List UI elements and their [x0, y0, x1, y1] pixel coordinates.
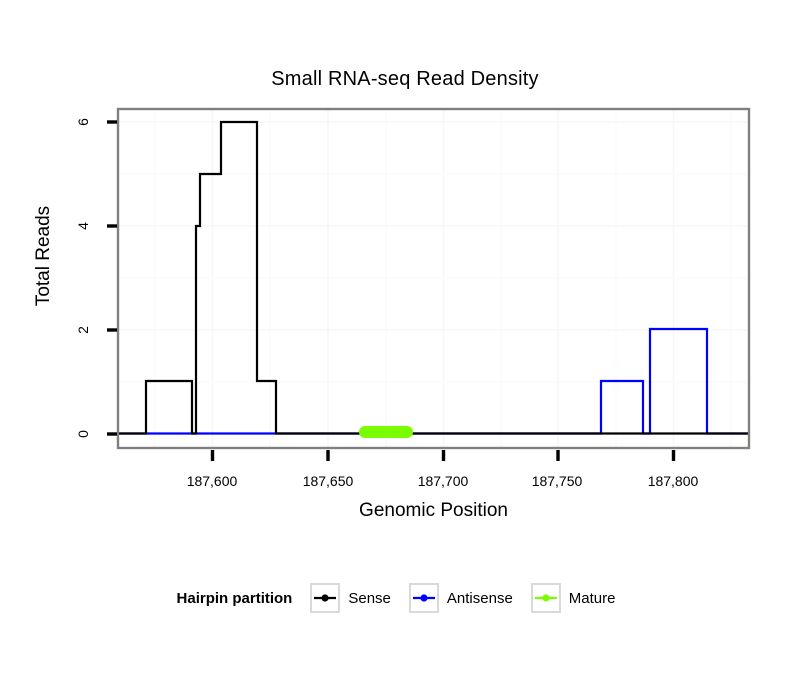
line-marker-icon [313, 587, 337, 609]
line-marker-icon [534, 587, 558, 609]
legend-key-antisense [409, 583, 439, 613]
legend-key-mature [531, 583, 561, 613]
legend-item-antisense[interactable]: Antisense [409, 583, 531, 613]
legend-title: Hairpin partition [177, 590, 293, 607]
legend-label-sense: Sense [348, 590, 391, 607]
legend-label-mature: Mature [569, 590, 616, 607]
legend-key-sense [310, 583, 340, 613]
legend-item-mature[interactable]: Mature [531, 583, 634, 613]
legend-label-antisense: Antisense [447, 590, 513, 607]
chart-figure: Small RNA-seq Read Density Total Reads G… [0, 0, 810, 690]
legend: Hairpin partition Sense Antisense [0, 583, 810, 613]
legend-item-sense[interactable]: Sense [310, 583, 409, 613]
line-marker-icon [412, 587, 436, 609]
